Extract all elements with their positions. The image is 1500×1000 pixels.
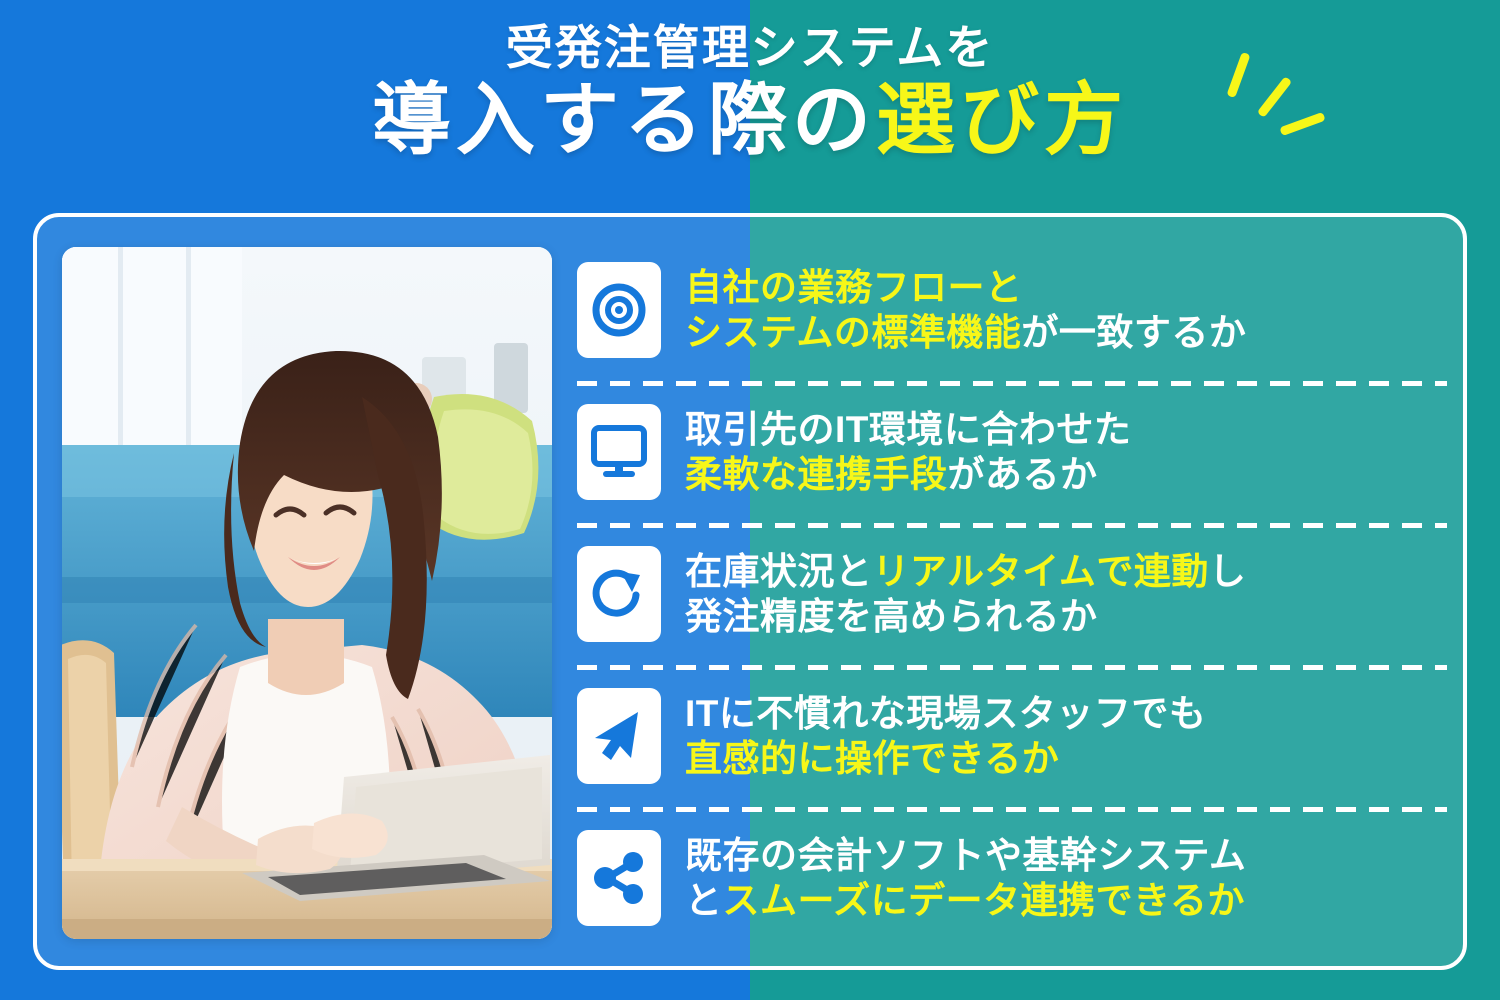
text-seg: が一致するか bbox=[1021, 312, 1246, 353]
list-item-line-1: 在庫状況とリアルタイムで連動し bbox=[685, 549, 1445, 594]
list-item: 自社の業務フローと システムの標準機能が一致するか bbox=[577, 239, 1445, 381]
monitor-icon bbox=[577, 404, 661, 500]
list-item: ITに不慣れな現場スタッフでも 直感的に操作できるか bbox=[577, 665, 1445, 807]
list-item-text: 既存の会計ソフトや基幹システム とスムーズにデータ連携できるか bbox=[685, 833, 1445, 923]
list-item-text: 取引先のIT環境に合わせた 柔軟な連携手段があるか bbox=[685, 407, 1445, 497]
sparkle-dash-1 bbox=[1226, 52, 1250, 98]
text-seg: があるか bbox=[948, 454, 1098, 495]
text-seg: リアルタイムで連動 bbox=[873, 551, 1209, 592]
text-seg: ITに不慣れな現場スタッフでも bbox=[685, 693, 1206, 734]
text-seg: し bbox=[1209, 551, 1247, 592]
refresh-sync-icon bbox=[577, 546, 661, 642]
text-seg: スムーズにデータ連携できるか bbox=[723, 880, 1245, 921]
text-seg: 発注精度を高められるか bbox=[685, 596, 1098, 637]
list-item-line-2: システムの標準機能が一致するか bbox=[685, 310, 1445, 355]
text-seg: 既存の会計ソフトや基幹システム bbox=[685, 835, 1246, 876]
list-item-line-2: 柔軟な連携手段があるか bbox=[685, 452, 1445, 497]
share-nodes-icon bbox=[577, 830, 661, 926]
list-item-text: ITに不慣れな現場スタッフでも 直感的に操作できるか bbox=[685, 691, 1445, 781]
list-item-line-2: 直感的に操作できるか bbox=[685, 736, 1445, 781]
woman-using-laptop-photo bbox=[62, 247, 552, 939]
list-item: 取引先のIT環境に合わせた 柔軟な連携手段があるか bbox=[577, 381, 1445, 523]
list-item-line-1: 既存の会計ソフトや基幹システム bbox=[685, 833, 1445, 878]
list-item-line-2: 発注精度を高められるか bbox=[685, 594, 1445, 639]
text-seg: システムの標準機能 bbox=[685, 312, 1021, 353]
photo-illustration bbox=[62, 247, 552, 939]
list-item-line-1: 自社の業務フローと bbox=[685, 265, 1445, 310]
list-item-text: 在庫状況とリアルタイムで連動し 発注精度を高められるか bbox=[685, 549, 1445, 639]
cursor-arrow-icon bbox=[577, 688, 661, 784]
text-seg: 取引先のIT環境に合わせた bbox=[685, 409, 1131, 450]
sparkle-dashes-icon bbox=[1222, 48, 1332, 163]
title-line-2-highlight: 選び方 bbox=[876, 75, 1128, 164]
sparkle-dash-3 bbox=[1279, 112, 1325, 136]
infographic-root: 受発注管理システムを 導入する際の選び方 bbox=[0, 0, 1500, 1000]
list-item-line-2: とスムーズにデータ連携できるか bbox=[685, 878, 1445, 923]
text-seg: 自社の業務フローと bbox=[685, 267, 1023, 308]
target-icon bbox=[577, 262, 661, 358]
list-item-line-1: ITに不慣れな現場スタッフでも bbox=[685, 691, 1445, 736]
text-seg: 直感的に操作できるか bbox=[685, 738, 1059, 779]
list-item-text: 自社の業務フローと システムの標準機能が一致するか bbox=[685, 265, 1445, 355]
sparkle-dash-2 bbox=[1257, 76, 1292, 118]
title-line-2-plain: 導入する際の bbox=[372, 75, 876, 164]
text-seg: 柔軟な連携手段 bbox=[685, 454, 948, 495]
list-item-line-1: 取引先のIT環境に合わせた bbox=[685, 407, 1445, 452]
content-card: 自社の業務フローと システムの標準機能が一致するか 取引先のIT環境に合わせた … bbox=[33, 213, 1467, 970]
text-seg: と bbox=[685, 880, 723, 921]
list-item: 既存の会計ソフトや基幹システム とスムーズにデータ連携できるか bbox=[577, 807, 1445, 949]
text-seg: 在庫状況と bbox=[685, 551, 873, 592]
list-item: 在庫状況とリアルタイムで連動し 発注精度を高められるか bbox=[577, 523, 1445, 665]
checklist: 自社の業務フローと システムの標準機能が一致するか 取引先のIT環境に合わせた … bbox=[577, 239, 1445, 951]
